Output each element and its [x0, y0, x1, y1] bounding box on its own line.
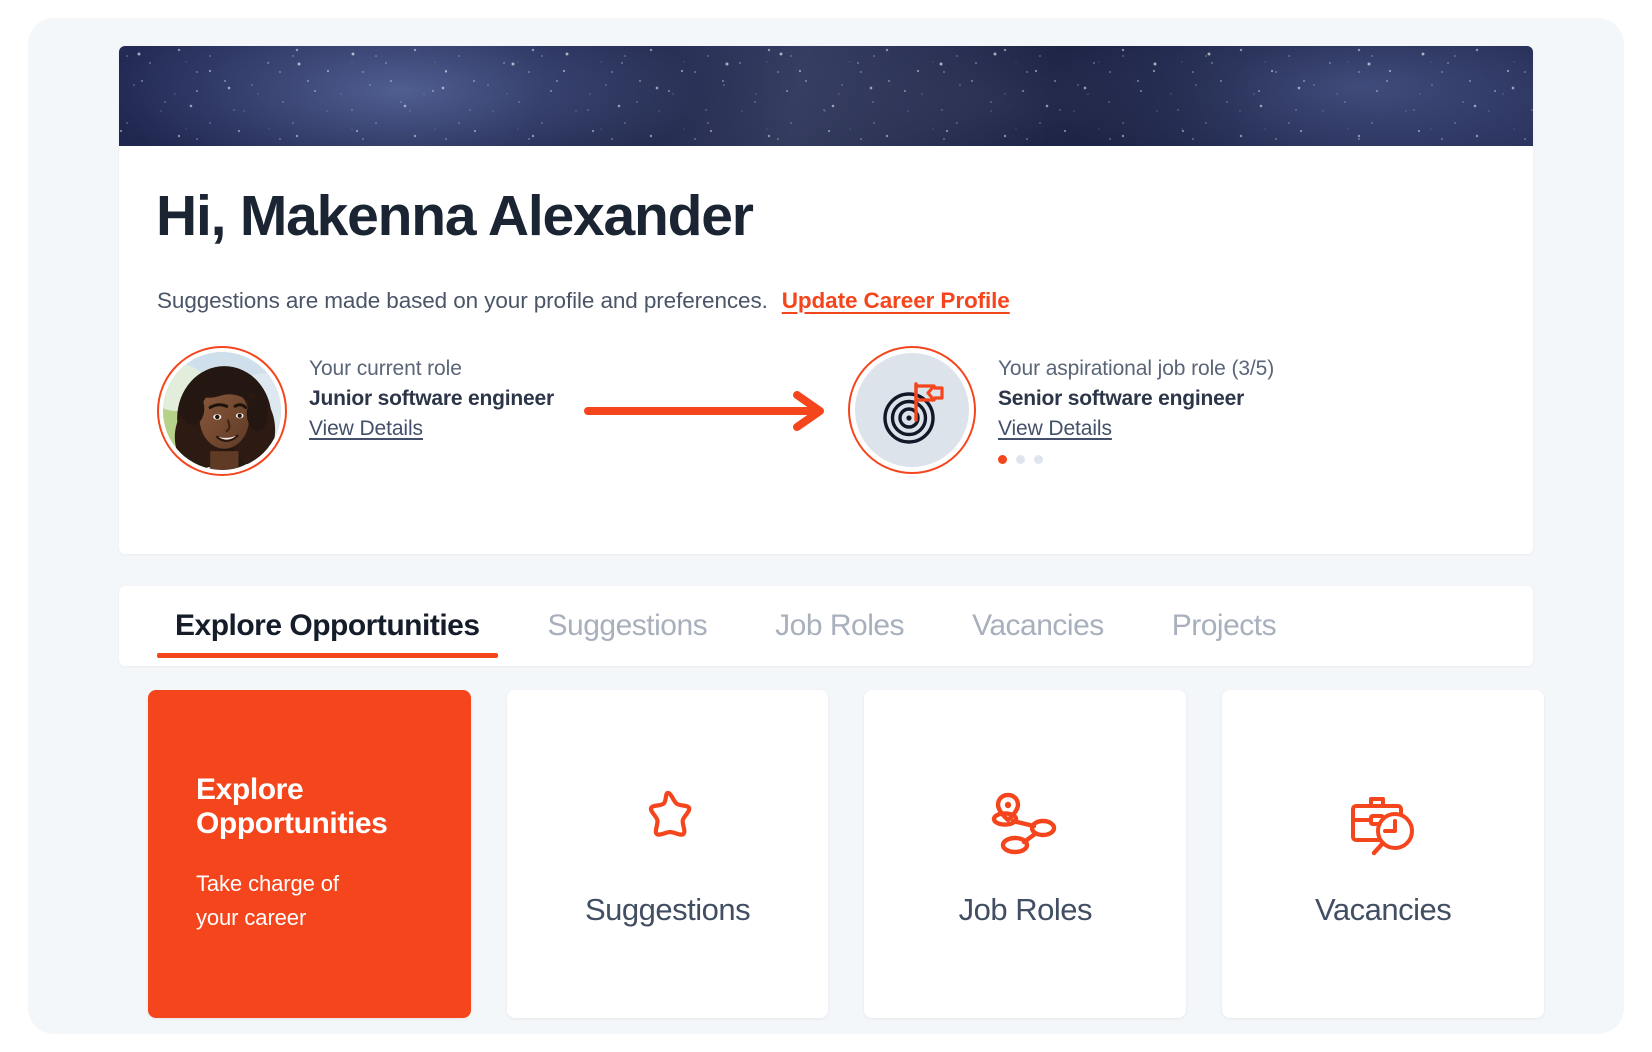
tab-suggestions[interactable]: Suggestions — [514, 586, 742, 666]
aspirational-role-text: Your aspirational job role (3/5) Senior … — [998, 346, 1274, 464]
star-outline-icon — [630, 780, 706, 864]
avatar[interactable] — [157, 346, 287, 476]
opportunity-cards-grid: Explore Opportunities Take charge of you… — [148, 690, 1544, 1018]
aspirational-role-block: Your aspirational job role (3/5) Senior … — [848, 346, 1274, 474]
route-svg — [986, 783, 1064, 861]
stars-layer-bright — [119, 46, 1533, 146]
aspirational-role-caption: Your aspirational job role (3/5) — [998, 357, 1274, 381]
subline-row: Suggestions are made based on your profi… — [157, 288, 1533, 314]
tab-vacancies[interactable]: Vacancies — [938, 586, 1138, 666]
current-role-caption: Your current role — [309, 357, 554, 381]
tab-explore-opportunities[interactable]: Explore Opportunities — [141, 586, 514, 666]
featured-card-title: Explore Opportunities — [196, 773, 387, 840]
pagination-dot-3[interactable] — [1034, 455, 1043, 464]
tab-job-roles[interactable]: Job Roles — [741, 586, 938, 666]
card-label-suggestions: Suggestions — [585, 892, 750, 928]
profile-hero-card: Hi, Makenna Alexander Suggestions are ma… — [119, 46, 1533, 554]
right-arrow-icon — [578, 346, 840, 476]
starfield-banner — [119, 46, 1533, 146]
current-role-text: Your current role Junior software engine… — [309, 346, 554, 441]
user-avatar-photo — [163, 352, 281, 470]
star-svg — [630, 784, 706, 860]
arrow-svg — [584, 389, 834, 433]
briefcase-search-icon — [1343, 780, 1423, 864]
suggestions-subline: Suggestions are made based on your profi… — [157, 288, 768, 314]
card-job-roles[interactable]: Job Roles — [864, 690, 1186, 1018]
aspirational-role-view-details-link[interactable]: View Details — [998, 417, 1112, 441]
current-role-block: Your current role Junior software engine… — [157, 346, 554, 476]
featured-title-line1: Explore — [196, 773, 387, 807]
card-explore-opportunities[interactable]: Explore Opportunities Take charge of you… — [148, 690, 471, 1018]
target-flag-icon — [876, 374, 948, 446]
briefcase-search-svg — [1343, 783, 1423, 861]
pagination-dot-2[interactable] — [1016, 455, 1025, 464]
avatar-portrait-icon — [163, 352, 281, 470]
card-label-job-roles: Job Roles — [959, 892, 1092, 928]
pagination-dot-1[interactable] — [998, 455, 1007, 464]
card-label-vacancies: Vacancies — [1315, 892, 1451, 928]
tab-bar: Explore Opportunities Suggestions Job Ro… — [119, 586, 1533, 666]
route-path-icon — [986, 780, 1064, 864]
update-career-profile-link[interactable]: Update Career Profile — [782, 288, 1010, 314]
featured-sub-line2: your career — [196, 901, 339, 935]
tab-projects[interactable]: Projects — [1138, 586, 1310, 666]
featured-card-subtitle: Take charge of your career — [196, 841, 339, 935]
card-suggestions[interactable]: Suggestions — [507, 690, 829, 1018]
app-frame: Hi, Makenna Alexander Suggestions are ma… — [28, 18, 1624, 1034]
target-disc — [855, 353, 969, 467]
card-vacancies[interactable]: Vacancies — [1222, 690, 1544, 1018]
roles-row: Your current role Junior software engine… — [157, 346, 1533, 486]
page-title: Hi, Makenna Alexander — [156, 186, 1533, 248]
hero-body: Hi, Makenna Alexander Suggestions are ma… — [119, 146, 1533, 486]
current-role-view-details-link[interactable]: View Details — [309, 417, 423, 441]
featured-sub-line1: Take charge of — [196, 867, 339, 901]
aspirational-role-title: Senior software engineer — [998, 387, 1274, 411]
current-role-title: Junior software engineer — [309, 387, 554, 411]
carousel-pagination — [998, 455, 1274, 464]
target-ring[interactable] — [848, 346, 976, 474]
featured-title-line2: Opportunities — [196, 807, 387, 841]
